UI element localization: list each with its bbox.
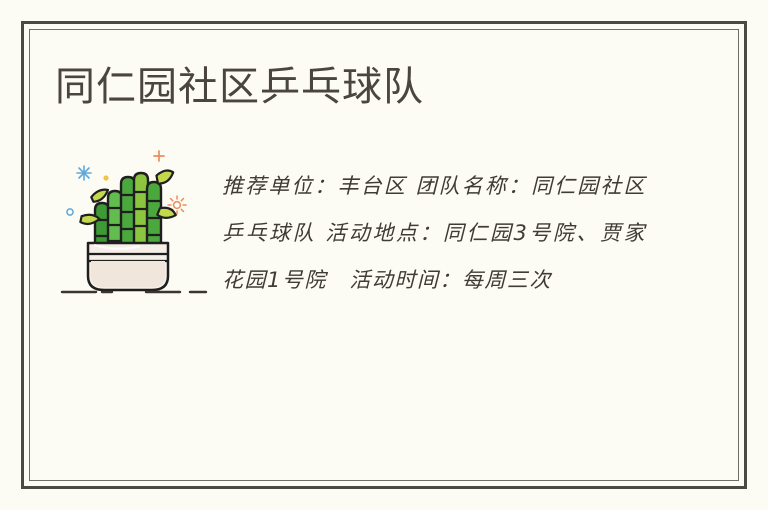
blue-dot-sparkle-icon xyxy=(67,209,73,215)
yellow-dot-sparkle-icon xyxy=(103,175,108,180)
page-title: 同仁园社区乒乓球队 xyxy=(55,62,424,112)
team-info-block: 推荐单位：丰台区 团队名称：同仁园社区乒乓球队 活动地点：同仁园3号院、贾家花园… xyxy=(222,163,646,304)
orange-plus-sparkle-icon xyxy=(154,151,164,161)
snowflake-sparkle-icon xyxy=(77,166,91,180)
potted-bamboo-illustration xyxy=(58,148,214,304)
flower-pot xyxy=(88,243,168,290)
poster-canvas: 同仁园社区乒乓球队 xyxy=(0,0,768,510)
team-info-text: 推荐单位：丰台区 团队名称：同仁园社区乒乓球队 活动地点：同仁园3号院、贾家花园… xyxy=(222,163,646,304)
